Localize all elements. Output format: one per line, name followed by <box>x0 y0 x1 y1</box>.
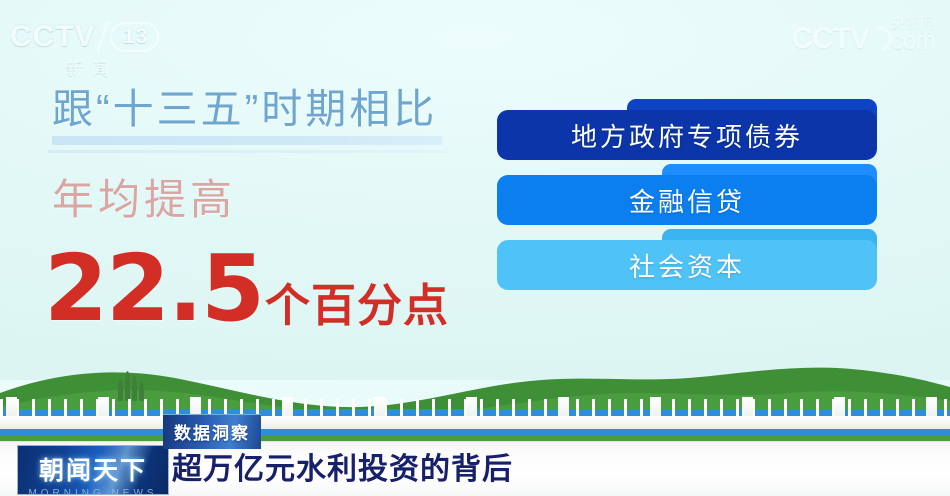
cctv-channel-sublabel: 新闻 <box>10 55 160 80</box>
funding-source-banner[interactable]: 地方政府专项债券 <box>497 110 877 160</box>
cctv-wordmark: CCTV <box>10 20 96 54</box>
metric-statistic: 22.5 个百分点 <box>44 243 449 335</box>
watermark-brand: CCTV <box>791 24 869 54</box>
lower-third-headline: 超万亿元水利投资的背后 <box>172 444 513 488</box>
banner-body: 金融信贷 <box>497 175 877 225</box>
funding-source-banner[interactable]: 社会资本 <box>497 240 877 290</box>
headline-underline-thick <box>52 136 442 145</box>
cctv-slash-icon <box>96 22 109 52</box>
bridge-structure <box>0 399 950 429</box>
metric-unit: 个百分点 <box>265 277 449 335</box>
funding-source-label: 金融信贷 <box>629 182 745 219</box>
metric-label: 年均提高 <box>52 176 236 224</box>
program-name: 朝闻天下 <box>18 451 168 487</box>
metric-value: 22.5 <box>44 243 263 335</box>
funding-source-banner[interactable]: 金融信贷 <box>497 175 877 225</box>
bridge-deck <box>0 416 950 429</box>
funding-sources-list: 地方政府专项债券 金融信贷 社会资本 <box>497 110 877 305</box>
funding-source-label: 社会资本 <box>629 247 745 284</box>
watermark-domain: com <box>891 29 935 54</box>
broadcast-frame: CCTV 13 新闻 CCTV 央视网 com 跟“十三五”时期相比 年均提高 … <box>0 0 950 496</box>
cctv-channel-logo: CCTV 13 新闻 <box>10 20 160 75</box>
headline-underline-thin <box>48 150 448 153</box>
funding-source-label: 地方政府专项债券 <box>571 117 803 154</box>
cctv-com-watermark: CCTV 央视网 com <box>791 16 936 54</box>
comparison-headline: 跟“十三五”时期相比 <box>52 86 437 132</box>
program-logo: 朝闻天下 MORNING NEWS <box>18 446 168 494</box>
banner-body: 地方政府专项债券 <box>497 110 877 160</box>
program-subtitle: MORNING NEWS <box>18 488 168 494</box>
cctv-channel-number: 13 <box>109 22 159 52</box>
banner-body: 社会资本 <box>497 240 877 290</box>
